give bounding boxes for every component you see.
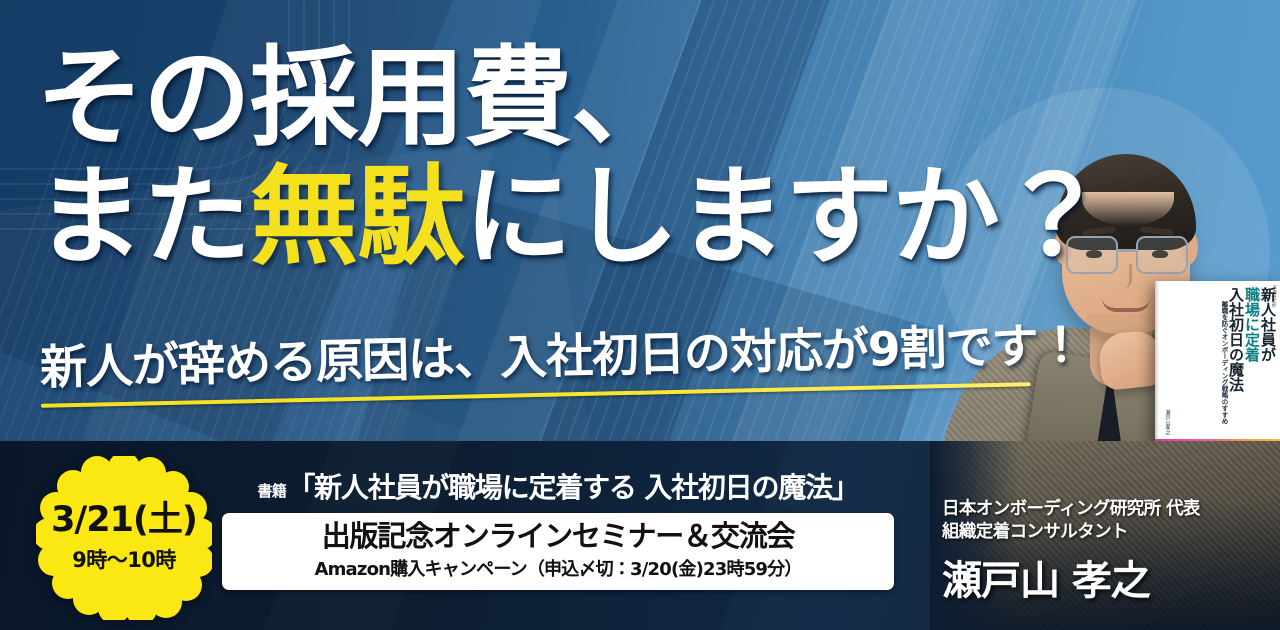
glasses-lens-right bbox=[1136, 236, 1188, 274]
speaker-role-line-1: 日本オンボーディング研究所 代表 bbox=[942, 498, 1280, 521]
speaker-role-line-2: 組織定着コンサルタント bbox=[942, 521, 1280, 544]
book-reference-line: 書籍 「新人社員が職場に定着する 入社初日の魔法」 bbox=[222, 466, 894, 506]
badge-date: 3/21(土) bbox=[51, 503, 197, 538]
headline-line-1: その採用費、 bbox=[36, 42, 1036, 155]
glasses-bridge bbox=[1118, 249, 1136, 252]
speaker-name: 瀬戸山 孝之 bbox=[942, 548, 1280, 606]
book-title-text: 「新人社員が職場に定着する 入社初日の魔法」 bbox=[287, 466, 858, 506]
seminar-callout-box: 出版記念オンラインセミナー＆交流会 Amazon購入キャンペーン（申込〆切：3/… bbox=[222, 513, 894, 590]
speaker-info: 日本オンボーディング研究所 代表 組織定着コンサルタント 瀬戸山 孝之 bbox=[942, 498, 1280, 606]
headline-line-2-post: にしますか？ bbox=[464, 155, 1106, 280]
headline-emphasis: 無駄 bbox=[250, 155, 464, 280]
photo-nose bbox=[1118, 264, 1132, 288]
book-label: 書籍 bbox=[257, 480, 286, 501]
date-badge: 3/21(土) 9時〜10時 bbox=[36, 456, 212, 620]
photo-mouth bbox=[1102, 298, 1150, 312]
badge-time: 9時〜10時 bbox=[72, 544, 176, 574]
headline-line-2-pre: また bbox=[36, 155, 250, 280]
book-title-col-1: 新人社員が bbox=[1260, 287, 1275, 439]
badge-text: 3/21(土) 9時〜10時 bbox=[36, 456, 212, 620]
event-info-block: 書籍 「新人社員が職場に定着する 入社初日の魔法」 出版記念オンラインセミナー＆… bbox=[222, 466, 894, 590]
headline-line-2: また無駄にしますか？ bbox=[36, 161, 1036, 274]
headline: その採用費、 また無駄にしますか？ bbox=[36, 42, 1036, 275]
book-title-col-2: 職場に定着 bbox=[1244, 287, 1259, 439]
campaign-deadline: Amazon購入キャンペーン（申込〆切：3/20(金)23時59分） bbox=[232, 555, 884, 581]
book-title-columns: 新人社員が 職場に定着 入社初日の魔法 離職を防ぐオンボーディング戦略のすすめ bbox=[1160, 287, 1275, 439]
book-author: 瀬戸山孝之 bbox=[1163, 410, 1171, 435]
book-title-col-3: 入社初日の魔法 bbox=[1228, 287, 1243, 439]
seminar-promo-banner: その採用費、 また無駄にしますか？ 新人が辞める原因は、入社初日の対応が9割です… bbox=[0, 0, 1280, 630]
seminar-title: 出版記念オンラインセミナー＆交流会 bbox=[232, 520, 884, 552]
